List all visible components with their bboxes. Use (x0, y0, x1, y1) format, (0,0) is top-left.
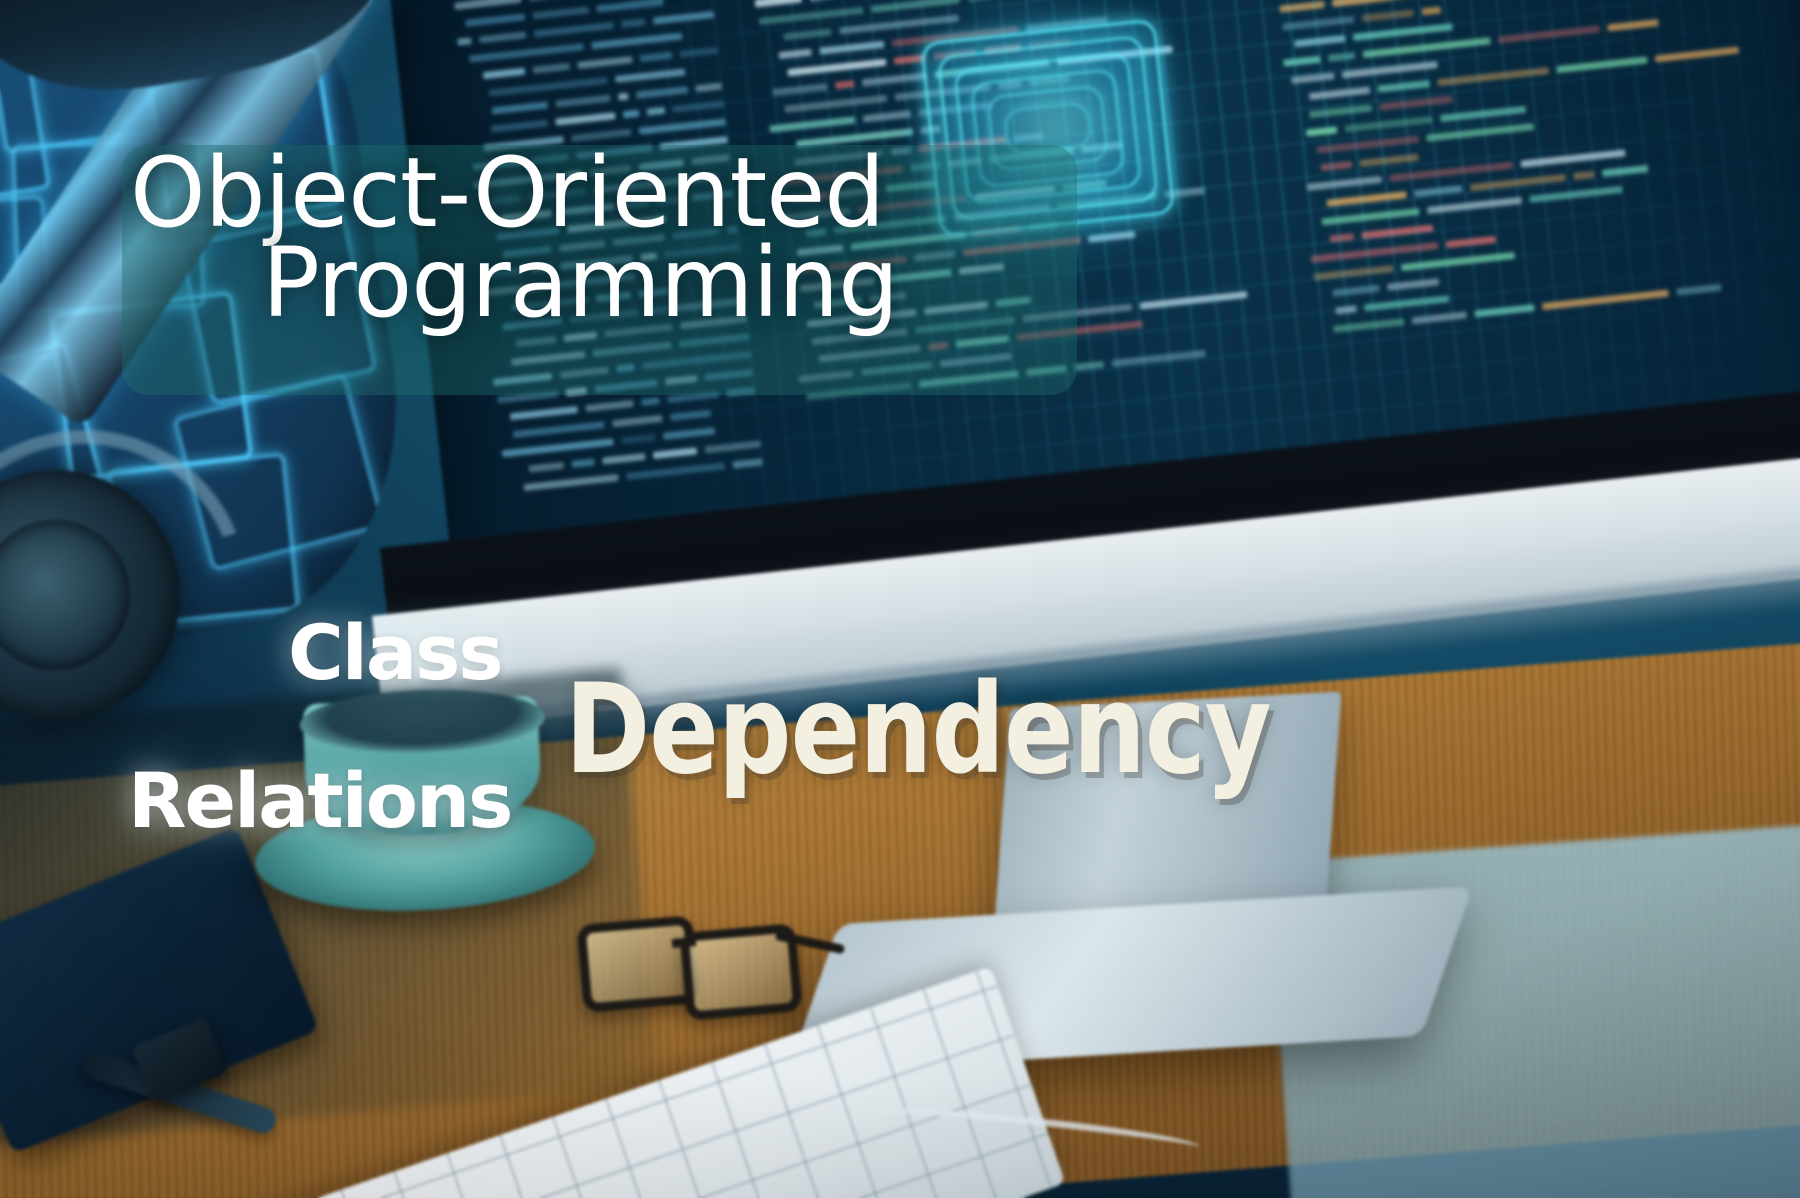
page-title: Object-Oriented Programming (130, 146, 1030, 330)
tag-class: Class (288, 608, 502, 697)
poster-canvas: Object-Oriented Programming Class Relati… (0, 0, 1800, 1198)
title-line-2: Programming (130, 236, 1030, 330)
tag-dependency: Dependency (565, 658, 1271, 802)
title-line-1: Object-Oriented (130, 146, 1030, 240)
tag-relations: Relations (128, 756, 511, 845)
